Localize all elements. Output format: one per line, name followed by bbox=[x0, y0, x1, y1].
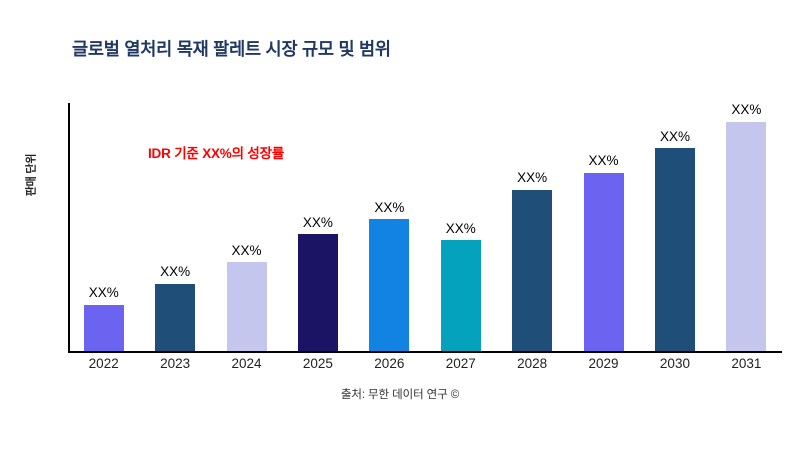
bar-rect[interactable] bbox=[512, 190, 552, 352]
bar-item[interactable]: XX% bbox=[496, 103, 567, 351]
plot-area: XX%XX%XX%XX%XX%XX%XX%XX%XX%XX% bbox=[68, 103, 782, 353]
x-axis-tick-2025: 2025 bbox=[282, 356, 353, 371]
x-axis-tick-2030: 2030 bbox=[639, 356, 710, 371]
x-axis-tick-labels: 2022202320242025202620272028202920302031 bbox=[68, 356, 782, 371]
bar-item[interactable]: XX% bbox=[211, 103, 282, 351]
bar-rect[interactable] bbox=[369, 219, 409, 351]
bar-value-label: XX% bbox=[589, 154, 619, 168]
bar-rect[interactable] bbox=[726, 122, 766, 352]
bar-rect[interactable] bbox=[155, 284, 195, 351]
bar-value-label: XX% bbox=[446, 222, 476, 236]
x-axis-tick-2023: 2023 bbox=[139, 356, 210, 371]
bar-value-label: XX% bbox=[89, 286, 119, 300]
x-axis-tick-2031: 2031 bbox=[711, 356, 782, 371]
bar-value-label: XX% bbox=[160, 265, 190, 279]
x-axis-tick-2026: 2026 bbox=[354, 356, 425, 371]
bar-item[interactable]: XX% bbox=[282, 103, 353, 351]
y-axis-label: 판매 단위 bbox=[22, 154, 38, 197]
source-caption: 출처: 무한 데이터 연구 © bbox=[0, 386, 800, 402]
bar-value-label: XX% bbox=[374, 201, 404, 215]
bar-item[interactable]: XX% bbox=[68, 103, 139, 351]
bar-item[interactable]: XX% bbox=[568, 103, 639, 351]
bar-item[interactable]: XX% bbox=[354, 103, 425, 351]
bar-rect[interactable] bbox=[584, 173, 624, 352]
bar-group: XX%XX%XX%XX%XX%XX%XX%XX%XX%XX% bbox=[68, 103, 782, 351]
bar-item[interactable]: XX% bbox=[711, 103, 782, 351]
x-axis-tick-2027: 2027 bbox=[425, 356, 496, 371]
bar-item[interactable]: XX% bbox=[425, 103, 496, 351]
bar-value-label: XX% bbox=[303, 216, 333, 230]
bar-rect[interactable] bbox=[298, 234, 338, 351]
x-axis-tick-2028: 2028 bbox=[496, 356, 567, 371]
bar-rect[interactable] bbox=[441, 240, 481, 351]
bar-value-label: XX% bbox=[232, 244, 262, 258]
bar-item[interactable]: XX% bbox=[139, 103, 210, 351]
bar-value-label: XX% bbox=[517, 171, 547, 185]
bar-value-label: XX% bbox=[660, 130, 690, 144]
x-axis-tick-2022: 2022 bbox=[68, 356, 139, 371]
bar-rect[interactable] bbox=[655, 148, 695, 351]
x-axis-line bbox=[68, 351, 782, 353]
bar-rect[interactable] bbox=[84, 305, 124, 352]
bar-value-label: XX% bbox=[731, 103, 761, 117]
bar-rect[interactable] bbox=[227, 262, 267, 351]
bar-item[interactable]: XX% bbox=[639, 103, 710, 351]
chart-container: 글로벌 열처리 목재 팔레트 시장 규모 및 범위 IDR 기준 XX%의 성장… bbox=[0, 0, 800, 450]
y-axis-label-container: 판매 단위 bbox=[0, 120, 60, 230]
x-axis-tick-2024: 2024 bbox=[211, 356, 282, 371]
chart-title: 글로벌 열처리 목재 팔레트 시장 규모 및 범위 bbox=[72, 36, 391, 61]
x-axis-tick-2029: 2029 bbox=[568, 356, 639, 371]
